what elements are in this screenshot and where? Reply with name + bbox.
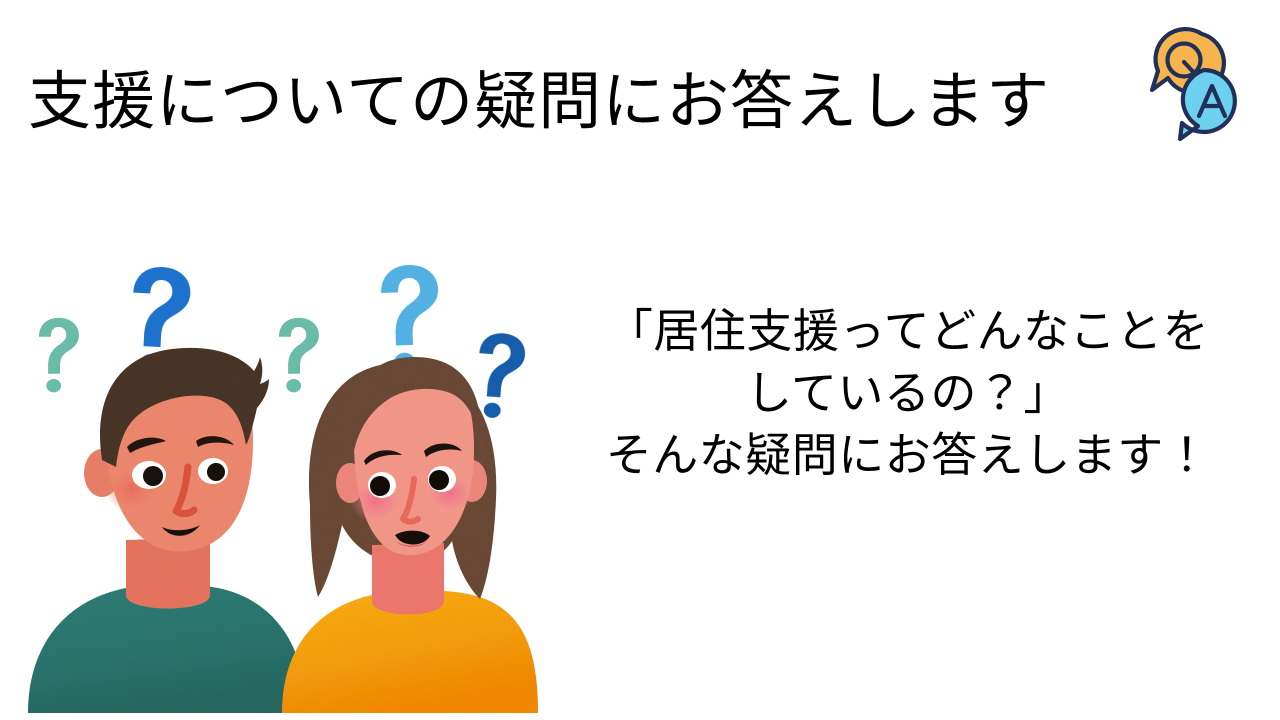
question-mark-icon-4 <box>380 264 441 372</box>
page-title: 支援についての疑問にお答えします <box>28 52 1148 152</box>
body-line-3: そんな疑問にお答えします！ <box>552 424 1264 486</box>
question-mark-icon-3 <box>279 318 319 393</box>
question-mark-icon-5 <box>475 332 526 420</box>
body-line-1: 「居住支援ってどんなことを <box>552 300 1264 362</box>
person-man-illustration <box>28 348 306 713</box>
answer-bubble-icon <box>1180 70 1235 139</box>
body-line-2: しているの？」 <box>552 362 1264 424</box>
qa-speech-bubbles-icon <box>1136 20 1264 148</box>
title-row: 支援についての疑問にお答えします <box>0 52 1280 162</box>
slide-canvas: 支援についての疑問にお答えします <box>0 0 1280 720</box>
two-people-illustration <box>10 245 550 715</box>
question-mark-icon-1 <box>39 318 79 393</box>
body-copy: 「居住支援ってどんなことを しているの？」 そんな疑問にお答えします！ <box>552 300 1264 486</box>
